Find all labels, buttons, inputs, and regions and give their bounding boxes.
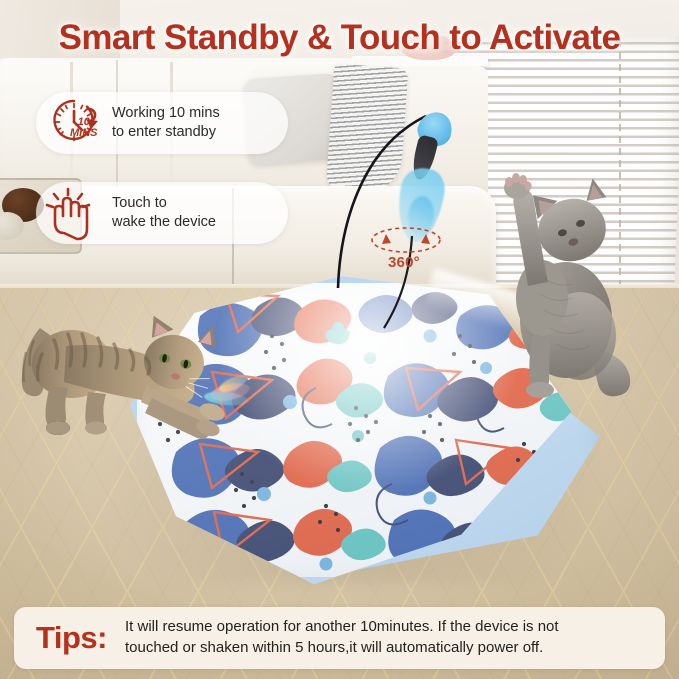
touch-badge-text: Touch to wake the device [112, 194, 216, 231]
tips-panel: Tips: It will resume operation for anoth… [14, 607, 665, 669]
page-title: Smart Standby & Touch to Activate [0, 18, 679, 58]
tips-body: It will resume operation for another 10m… [125, 617, 559, 658]
clock-icon-duration: 10 MINS [70, 117, 98, 139]
tips-label: Tips: [36, 620, 107, 656]
standby-line-2: to enter standby [112, 123, 220, 142]
product-marketing-image: 360° [0, 0, 679, 679]
touch-hand-icon [44, 185, 106, 241]
rotation-label: 360° [388, 254, 420, 271]
rotation-annotation: 360° [358, 222, 454, 284]
clock-icon: 10 MINS [44, 95, 106, 151]
rotation-ellipse-icon [358, 222, 454, 284]
clock-icon-unit: MINS [70, 128, 98, 139]
standby-badge-text: Working 10 mins to enter standby [112, 104, 220, 141]
tips-line-1: It will resume operation for another 10m… [125, 617, 559, 638]
touch-line-1: Touch to [112, 194, 216, 213]
standby-line-1: Working 10 mins [112, 104, 220, 123]
touch-line-2: wake the device [112, 213, 216, 232]
tabby-kitten [6, 300, 256, 450]
tips-line-2: touched or shaken within 5 hours,it will… [125, 638, 559, 659]
feature-badge-touch: Touch to wake the device [36, 182, 288, 244]
feature-badge-standby: 10 MINS Working 10 mins to enter standby [36, 92, 288, 154]
grey-kitten [470, 168, 650, 398]
